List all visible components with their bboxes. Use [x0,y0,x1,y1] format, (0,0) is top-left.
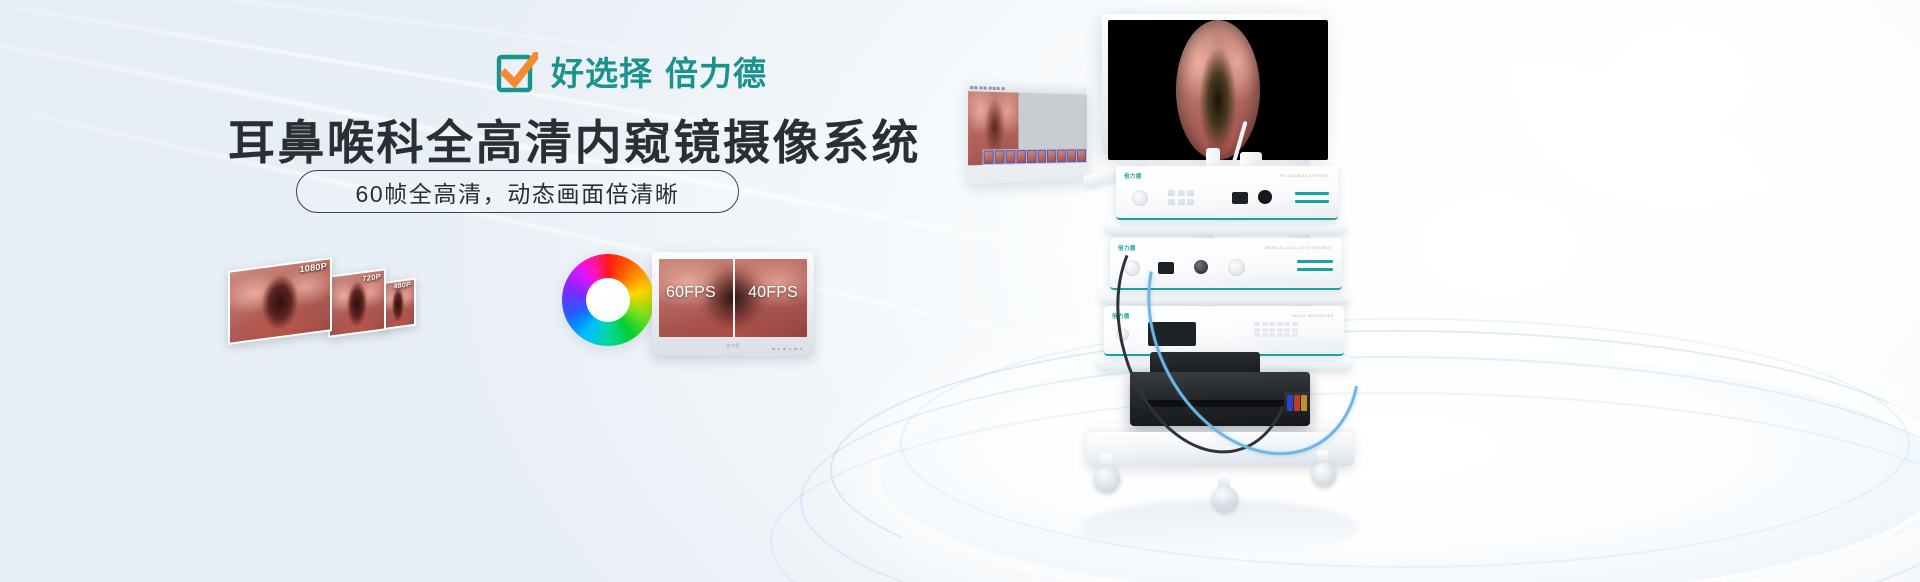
banner-copy: 好选择倍力德 耳鼻喉科全高清内窥镜摄像系统 60帧全高清，动态画面倍清晰 480… [0,0,1060,582]
subtitle-pill: 60帧全高清，动态画面倍清晰 [296,170,739,213]
monitor-button[interactable] [772,348,775,351]
module-knob[interactable] [1132,190,1148,206]
endoscopic-image [1176,20,1260,160]
monitor-button[interactable] [778,348,781,351]
thumbnail[interactable] [995,150,1005,163]
product-banner: 好选择倍力德 耳鼻喉科全高清内窥镜摄像系统 60帧全高清，动态画面倍清晰 480… [0,0,1920,582]
image-workstation-monitor [968,84,1087,184]
brand-lockup: 好选择倍力德 [496,52,767,94]
monitor-buttons [772,348,802,351]
camera-port[interactable] [1258,190,1272,204]
workstation-thumbnail-strip[interactable] [983,148,1087,165]
keypad-key[interactable] [1178,190,1185,196]
floor-reflection [1080,500,1360,556]
thumbnail[interactable] [1047,150,1056,163]
module-accent-bar [1295,200,1329,203]
cart-caster [1094,466,1120,492]
feature-framerate-visual: 60FPS 40FPS 倍力德 [652,252,822,370]
fps-comparison-monitor: 60FPS 40FPS 倍力德 [652,252,814,356]
thumbnail[interactable] [1057,150,1066,163]
thumbnail[interactable] [984,150,994,164]
module-model-label: HD CAMERA SYSTEM [1280,173,1328,178]
brand-slogan-text: 好选择倍力德 [551,57,767,90]
module-keypad[interactable] [1168,190,1194,205]
split-divider [733,259,735,337]
thumbnail[interactable] [1067,149,1076,162]
brand-name: 倍力德 [665,55,767,92]
endoscopy-tower-cart: 倍力德 HD CAMERA SYSTEM 倍力德 MEDICAL LED LIG… [1060,0,1920,582]
monitor-brand-label: 倍力德 [726,343,739,349]
thumbnail[interactable] [1005,150,1015,163]
page-title: 耳鼻喉科全高清内窥镜摄像系统 [228,115,848,171]
subtitle-text: 60帧全高清，动态画面倍清晰 [356,175,680,209]
keypad-key[interactable] [1178,199,1185,205]
thumbnail[interactable] [1037,150,1046,163]
endoscope-image-monitor [1102,14,1322,154]
feature-list: 480P 720P 1080P 60FPS [0,248,1060,388]
monitor-screen: 60FPS 40FPS [659,259,807,337]
monitor-button[interactable] [789,348,792,351]
fps-label-right: 40FPS [748,284,798,302]
monitor-button[interactable] [794,348,797,351]
keypad-key[interactable] [1168,199,1175,205]
monitor-button[interactable] [783,348,786,351]
color-wheel-icon [562,254,654,346]
keypad-key[interactable] [1187,199,1194,205]
thumbnail[interactable] [1077,149,1086,162]
resolution-panel: 720P [328,268,386,338]
resolution-panel: 1080P [228,257,332,345]
fps-label-left: 60FPS [666,284,716,302]
feature-full-hd-visual: 480P 720P 1080P [228,248,408,358]
checkbox-check-icon [496,52,538,94]
cart-caster [1312,462,1336,486]
monitor-bezel: 倍力德 [652,338,814,354]
workstation-bezel [972,88,1090,105]
keypad-key[interactable] [1187,190,1194,196]
monitor-button[interactable] [800,348,803,351]
thumbnail[interactable] [1027,150,1036,163]
module-accent-bar [1295,192,1329,195]
monitor-screen [1108,20,1328,160]
thumbnail[interactable] [1016,150,1026,163]
keypad-key[interactable] [1168,190,1175,196]
brand-slogan: 好选择 [551,55,653,92]
module-brand-label: 倍力德 [1124,172,1142,180]
